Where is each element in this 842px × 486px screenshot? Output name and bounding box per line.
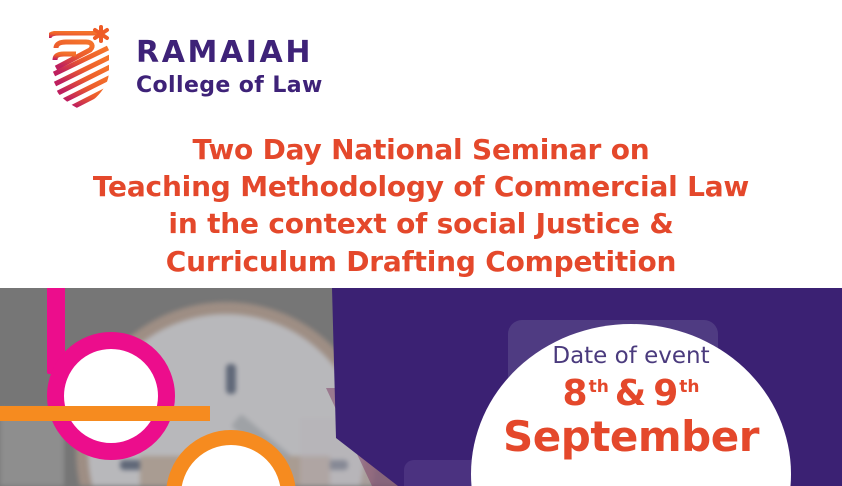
pink-ring-shape-icon — [47, 332, 175, 460]
brand-name: RAMAIAH — [136, 37, 323, 69]
ramaiah-shield-logo-icon — [46, 24, 118, 112]
date-day-second: 9 — [653, 373, 679, 414]
date-label: Date of event — [471, 344, 791, 369]
poster-graphic-band: Date of event 8th&9th September — [0, 288, 842, 486]
brand-subtitle: College of Law — [136, 72, 323, 100]
date-separator: & — [609, 373, 653, 414]
poster-header: RAMAIAH College of Law Two Day National … — [0, 0, 842, 288]
orange-bar-shape-icon — [0, 406, 210, 421]
title-line-4: Curriculum Drafting Competition — [0, 243, 842, 280]
brand-text: RAMAIAH College of Law — [136, 37, 323, 100]
brand-lockup: RAMAIAH College of Law — [46, 24, 323, 112]
title-line-3: in the context of social Justice & — [0, 205, 842, 242]
date-day-second-suffix: th — [679, 377, 699, 397]
date-of-event-badge: Date of event 8th&9th September — [471, 324, 791, 486]
date-day-first: 8 — [563, 373, 589, 414]
date-days: 8th&9th — [471, 375, 791, 413]
title-line-2: Teaching Methodology of Commercial Law — [0, 168, 842, 205]
event-poster: RAMAIAH College of Law Two Day National … — [0, 0, 842, 486]
clock-tick-12 — [226, 364, 236, 394]
title-line-1: Two Day National Seminar on — [0, 131, 842, 168]
page-title: Two Day National Seminar on Teaching Met… — [0, 131, 842, 280]
date-day-first-suffix: th — [589, 377, 609, 397]
date-month: September — [471, 415, 791, 459]
